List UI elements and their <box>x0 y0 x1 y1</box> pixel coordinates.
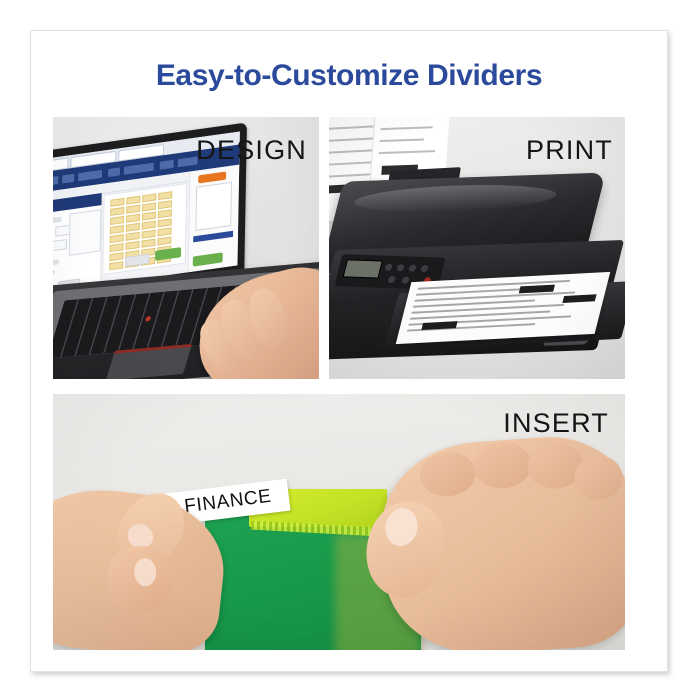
left-index-finger <box>107 545 173 613</box>
highlight-chip <box>198 172 226 184</box>
caption-print: PRINT <box>526 135 613 166</box>
app-sidebar <box>188 166 240 273</box>
caption-insert: INSERT <box>503 408 609 439</box>
label-grid-preview <box>102 183 187 275</box>
label-text: FINANCE <box>183 486 273 519</box>
caption-design: DESIGN <box>196 135 307 166</box>
printer-button[interactable] <box>396 264 405 271</box>
sheet-preview <box>195 182 232 231</box>
poster-canvas: Easy-to-Customize Dividers <box>0 0 700 700</box>
sidebar-divider <box>193 231 233 243</box>
poster-card: Easy-to-Customize Dividers <box>30 30 668 672</box>
printer-button[interactable] <box>387 276 396 283</box>
page-title: Easy-to-Customize Dividers <box>31 59 667 93</box>
printer-lcd-screen <box>343 259 383 278</box>
printer-button[interactable] <box>401 276 410 283</box>
panel-insert[interactable]: FINANCE INSERT <box>53 394 625 650</box>
panel-print[interactable]: PRINT <box>329 117 625 379</box>
panel-design[interactable]: DESIGN <box>53 117 319 379</box>
continue-button[interactable] <box>155 247 181 261</box>
printed-label-sheet <box>396 272 611 344</box>
sidebar-action-button[interactable] <box>193 252 223 266</box>
printer-button[interactable] <box>408 265 417 272</box>
printer-button[interactable] <box>420 265 429 272</box>
printer-button[interactable] <box>384 264 393 271</box>
